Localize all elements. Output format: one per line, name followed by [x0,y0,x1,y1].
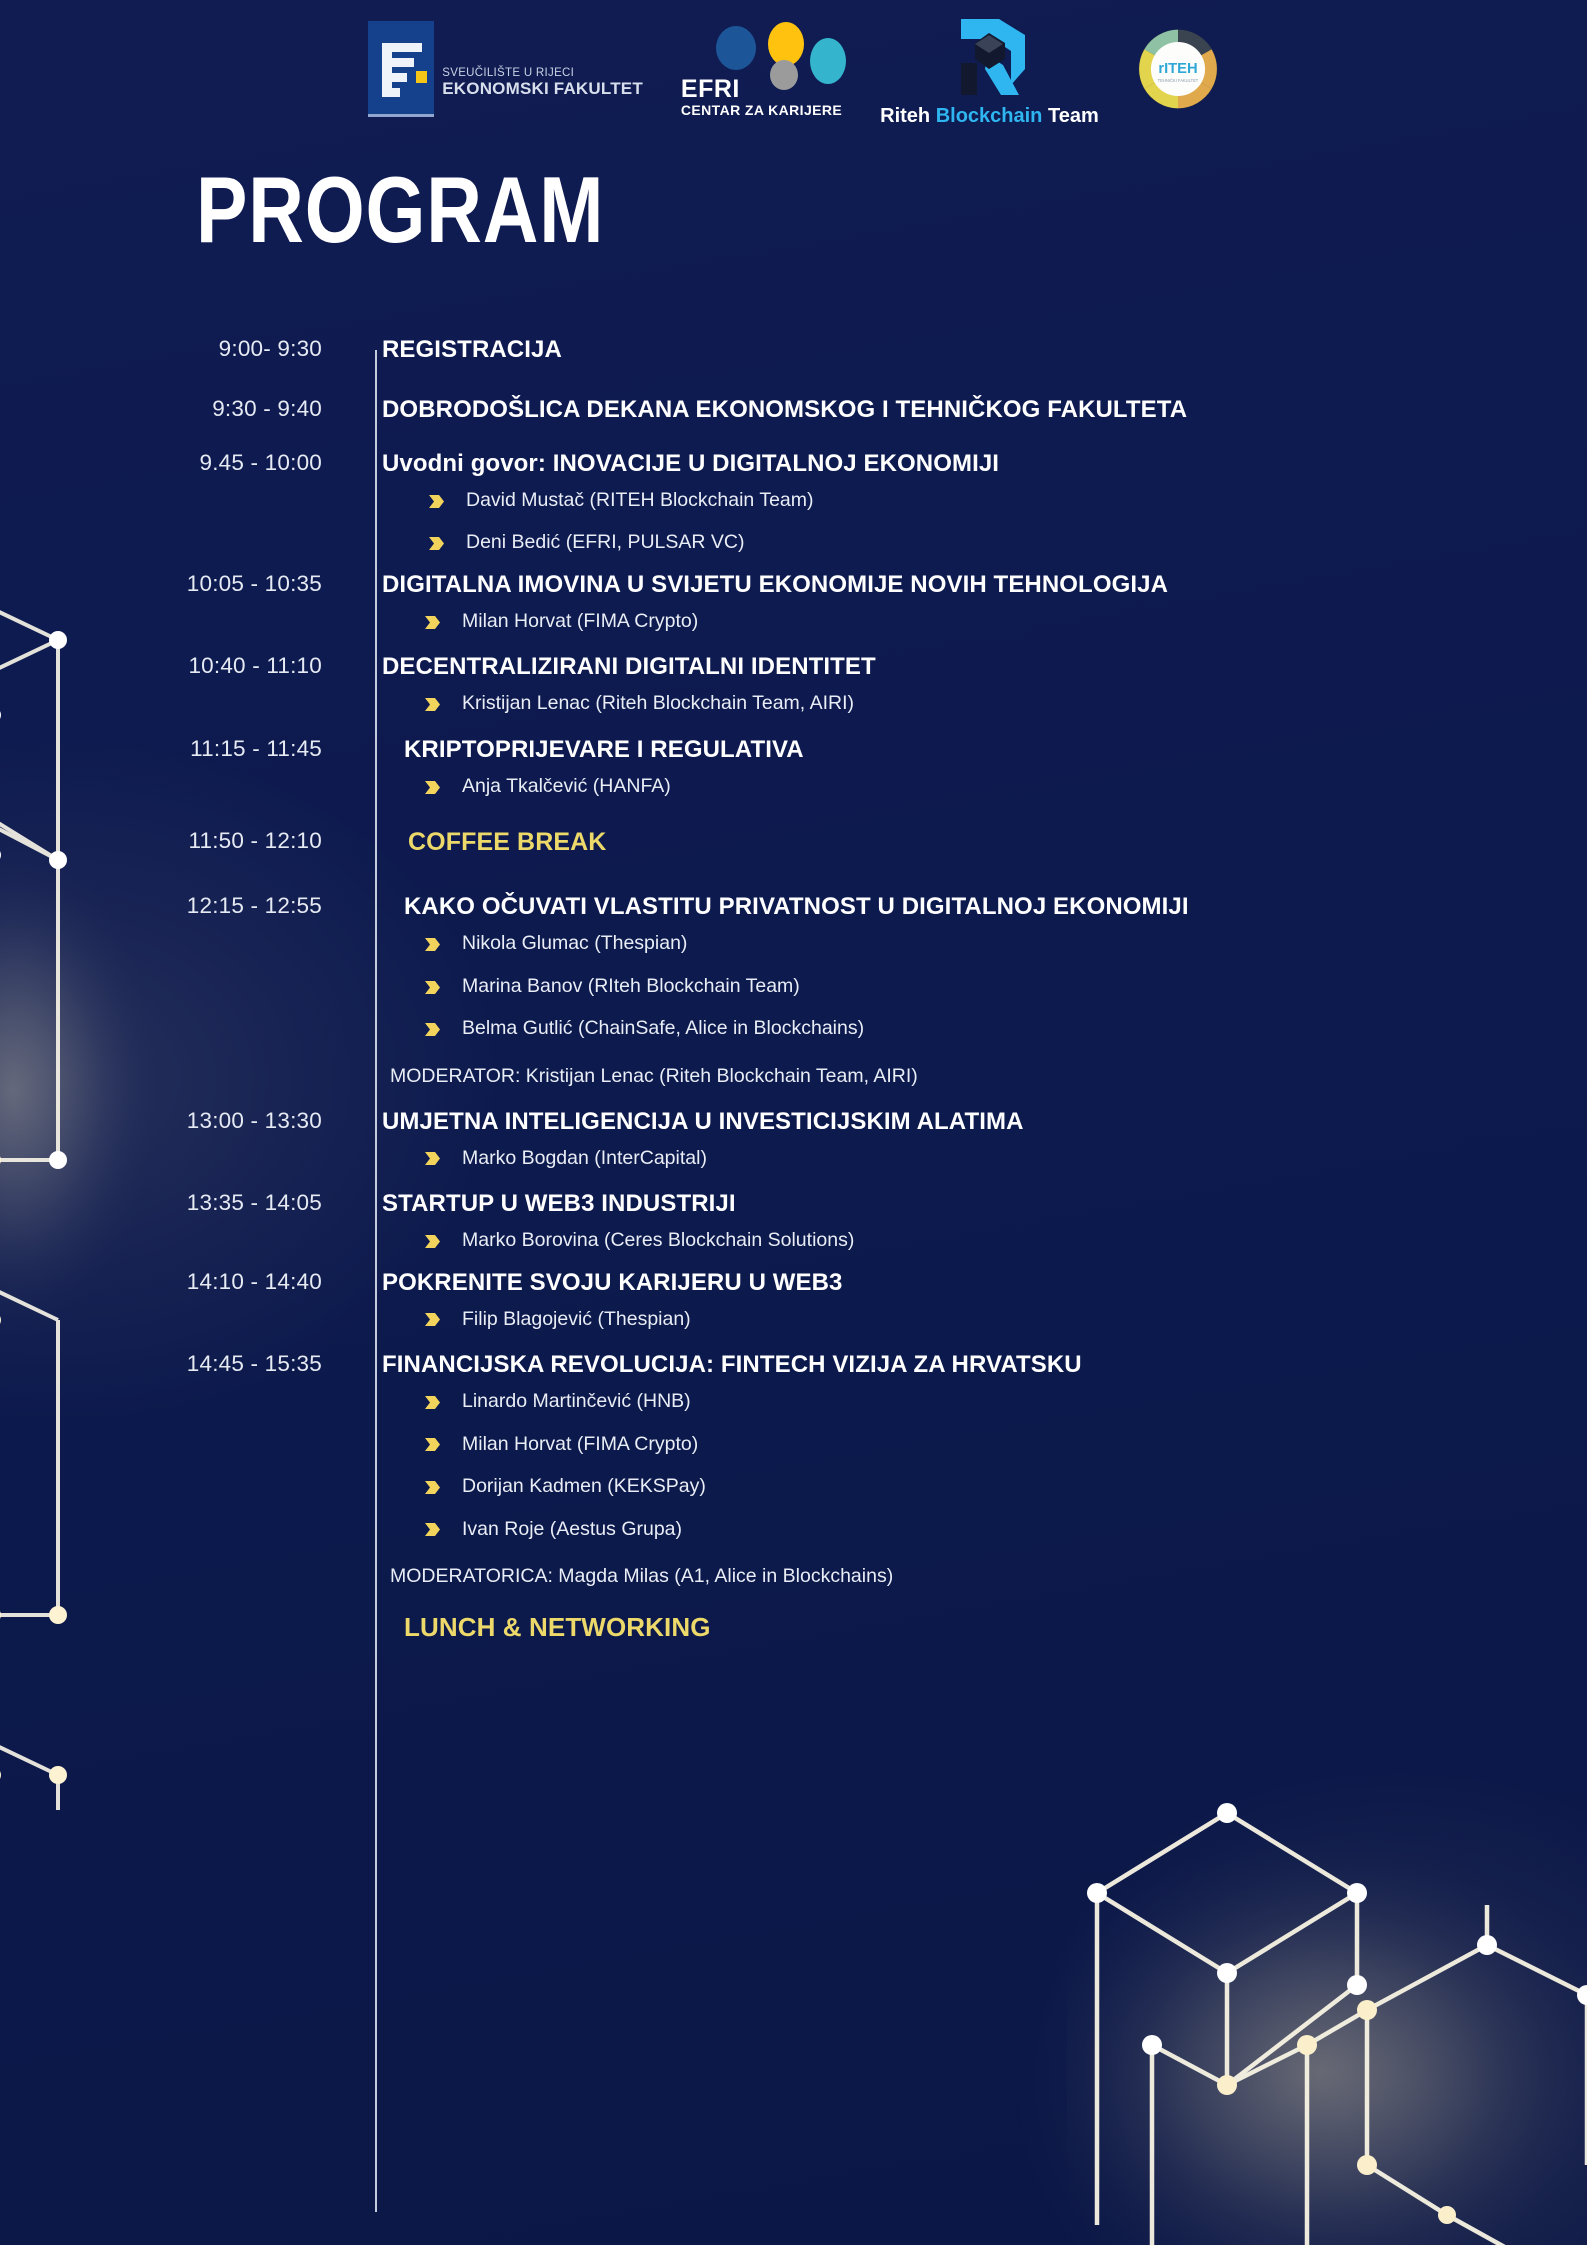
session-title: LUNCH & NETWORKING [382,1612,1587,1643]
session-title: REGISTRACIJA [382,336,1587,364]
schedule-row: 9:00- 9:30REGISTRACIJA [0,336,1587,364]
session-time: 11:50 - 12:10 [0,828,352,854]
schedule-row: 9.45 - 10:00Uvodni govor: INOVACIJE U DI… [0,450,1587,553]
session-title: KRIPTOPRIJEVARE I REGULATIVA [382,736,1587,764]
efri-logo-line2: EKONOMSKI FAKULTET [442,79,643,99]
session-time: 9:30 - 9:40 [0,396,352,422]
speaker-list: Nikola Glumac (Thespian)Marina Banov (RI… [382,933,1587,1038]
speaker-item: Kristijan Lenac (Riteh Blockchain Team, … [424,693,1587,713]
speaker-name: Deni Bedić (EFRI, PULSAR VC) [466,532,745,552]
speaker-name: Dorijan Kadmen (KEKSPay) [462,1476,706,1496]
row-spacer [0,424,1587,450]
speaker-item: Belma Gutlić (ChainSafe, Alice in Blockc… [424,1018,1587,1038]
row-spacer [0,364,1587,396]
row-spacer [0,1168,1587,1190]
session-content: REGISTRACIJA [352,336,1587,364]
speaker-item: Ivan Roje (Aestus Grupa) [424,1519,1587,1539]
speaker-name: Marina Banov (RIteh Blockchain Team) [462,976,800,996]
speaker-item: Milan Horvat (FIMA Crypto) [424,1434,1587,1454]
session-content: COFFEE BREAK [352,828,1587,857]
speaker-name: Anja Tkalčević (HANFA) [462,776,671,796]
session-time: 14:10 - 14:40 [0,1269,352,1295]
session-time: 10:05 - 10:35 [0,571,352,597]
speaker-item: Deni Bedić (EFRI, PULSAR VC) [428,532,1587,552]
session-content: DOBRODOŠLICA DEKANA EKONOMSKOG I TEHNIČK… [352,396,1587,424]
speaker-name: Milan Horvat (FIMA Crypto) [462,1434,698,1454]
session-time: 10:40 - 11:10 [0,653,352,679]
session-time: 13:35 - 14:05 [0,1190,352,1216]
riteh-blockchain-team-label: Riteh Blockchain Team [880,105,1099,128]
speaker-list: Filip Blagojević (Thespian) [382,1309,1587,1329]
efri-f-mark-icon [368,21,434,117]
career-centre-dots-icon [716,20,846,86]
speaker-list: Linardo Martinčević (HNB)Milan Horvat (F… [382,1391,1587,1539]
row-spacer [0,631,1587,653]
schedule-row: 10:05 - 10:35DIGITALNA IMOVINA U SVIJETU… [0,571,1587,631]
speaker-name: Belma Gutlić (ChainSafe, Alice in Blockc… [462,1018,864,1038]
session-content: KAKO OČUVATI VLASTITU PRIVATNOST U DIGIT… [352,893,1587,1087]
riteh-tehnicki-fakultet-seal: rITEH TEHNIČKI FAKULTET [1137,28,1219,110]
efri-logo-line1: SVEUČILIŠTE U RIJECI [442,67,643,79]
arrow-bullet-icon [428,493,448,508]
arrow-bullet-icon [424,696,444,711]
session-content: UMJETNA INTELIGENCIJA U INVESTICIJSKIM A… [352,1108,1587,1168]
schedule-row: 13:00 - 13:30UMJETNA INTELIGENCIJA U INV… [0,1108,1587,1168]
schedule-row: 9:30 - 9:40DOBRODOŠLICA DEKANA EKONOMSKO… [0,396,1587,424]
session-title: Uvodni govor: INOVACIJE U DIGITALNOJ EKO… [382,450,1587,478]
session-time: 9.45 - 10:00 [0,450,352,476]
session-content: LUNCH & NETWORKING [352,1612,1587,1643]
riteh-blockchain-team-logo: Riteh Blockchain Team [880,11,1099,128]
arrow-bullet-icon [424,1394,444,1409]
arrow-bullet-icon [428,535,448,550]
schedule-row: 13:35 - 14:05STARTUP U WEB3 INDUSTRIJIMa… [0,1190,1587,1250]
session-content: DIGITALNA IMOVINA U SVIJETU EKONOMIJE NO… [352,571,1587,631]
arrow-bullet-icon [424,779,444,794]
arrow-bullet-icon [424,1436,444,1451]
arrow-bullet-icon [424,1233,444,1248]
schedule-row: LUNCH & NETWORKING [0,1612,1587,1643]
speaker-name: Filip Blagojević (Thespian) [462,1309,691,1329]
arrow-bullet-icon [424,614,444,629]
arrow-bullet-icon [424,1521,444,1536]
arrow-bullet-icon [424,1150,444,1165]
schedule-row: 11:50 - 12:10COFFEE BREAK [0,828,1587,857]
speaker-item: Marina Banov (RIteh Blockchain Team) [424,976,1587,996]
speaker-name: Marko Bogdan (InterCapital) [462,1148,707,1168]
speaker-name: Ivan Roje (Aestus Grupa) [462,1519,682,1539]
speaker-list: Milan Horvat (FIMA Crypto) [382,611,1587,631]
speaker-list: Marko Borovina (Ceres Blockchain Solutio… [382,1230,1587,1250]
session-content: POKRENITE SVOJU KARIJERU U WEB3Filip Bla… [352,1269,1587,1329]
speaker-name: Linardo Martinčević (HNB) [462,1391,691,1411]
row-spacer [0,1088,1587,1108]
session-title: FINANCIJSKA REVOLUCIJA: FINTECH VIZIJA Z… [382,1351,1587,1379]
speaker-item: Filip Blagojević (Thespian) [424,1309,1587,1329]
blockchain-cubes-decoration-right [1067,1745,1587,2245]
speaker-item: Linardo Martinčević (HNB) [424,1391,1587,1411]
speaker-name: David Mustač (RITEH Blockchain Team) [466,490,814,510]
session-title: KAKO OČUVATI VLASTITU PRIVATNOST U DIGIT… [382,893,1587,921]
session-content: STARTUP U WEB3 INDUSTRIJIMarko Borovina … [352,1190,1587,1250]
row-spacer [0,714,1587,736]
arrow-bullet-icon [424,1021,444,1036]
speaker-item: Marko Borovina (Ceres Blockchain Solutio… [424,1230,1587,1250]
session-time: 13:00 - 13:30 [0,1108,352,1134]
session-content: Uvodni govor: INOVACIJE U DIGITALNOJ EKO… [352,450,1587,553]
efri-centar-za-karijere-logo: EFRI CENTAR ZA KARIJERE [681,20,842,118]
schedule-row: 11:15 - 11:45KRIPTOPRIJEVARE I REGULATIV… [0,736,1587,796]
schedule-row: 14:10 - 14:40POKRENITE SVOJU KARIJERU U … [0,1269,1587,1329]
riteh-blockchain-r-hexagon-icon [941,11,1037,103]
session-content: FINANCIJSKA REVOLUCIJA: FINTECH VIZIJA Z… [352,1351,1587,1588]
arrow-bullet-icon [424,936,444,951]
session-time: 14:45 - 15:35 [0,1351,352,1377]
row-spacer [0,1251,1587,1269]
speaker-item: Marko Bogdan (InterCapital) [424,1148,1587,1168]
session-title: COFFEE BREAK [382,828,1587,857]
svg-text:TEHNIČKI FAKULTET: TEHNIČKI FAKULTET [1157,78,1198,83]
speaker-name: Milan Horvat (FIMA Crypto) [462,611,698,631]
session-title: DOBRODOŠLICA DEKANA EKONOMSKOG I TEHNIČK… [382,396,1587,424]
session-time: 11:15 - 11:45 [0,736,352,762]
speaker-item: Anja Tkalčević (HANFA) [424,776,1587,796]
speaker-list: Anja Tkalčević (HANFA) [382,776,1587,796]
session-title: STARTUP U WEB3 INDUSTRIJI [382,1190,1587,1218]
speaker-name: Kristijan Lenac (Riteh Blockchain Team, … [462,693,854,713]
arrow-bullet-icon [424,1311,444,1326]
session-title: UMJETNA INTELIGENCIJA U INVESTICIJSKIM A… [382,1108,1587,1136]
arrow-bullet-icon [424,1479,444,1494]
career-centre-line2: CENTAR ZA KARIJERE [681,102,842,118]
speaker-item: David Mustač (RITEH Blockchain Team) [428,490,1587,510]
schedule-row: 12:15 - 12:55KAKO OČUVATI VLASTITU PRIVA… [0,893,1587,1087]
schedule-row: 10:40 - 11:10DECENTRALIZIRANI DIGITALNI … [0,653,1587,713]
page-title: PROGRAM [196,163,604,257]
row-spacer [0,553,1587,571]
session-title: DECENTRALIZIRANI DIGITALNI IDENTITET [382,653,1587,681]
speaker-list: Marko Bogdan (InterCapital) [382,1148,1587,1168]
session-time: 9:00- 9:30 [0,336,352,362]
speaker-name: Marko Borovina (Ceres Blockchain Solutio… [462,1230,854,1250]
session-title: DIGITALNA IMOVINA U SVIJETU EKONOMIJE NO… [382,571,1587,599]
row-spacer [0,857,1587,893]
row-spacer [0,1329,1587,1351]
row-spacer [0,1588,1587,1612]
sponsor-logo-bar: SVEUČILIŠTE U RIJECI EKONOMSKI FAKULTET … [0,8,1587,130]
speaker-list: Kristijan Lenac (Riteh Blockchain Team, … [382,693,1587,713]
arrow-bullet-icon [424,979,444,994]
schedule-row: 14:45 - 15:35FINANCIJSKA REVOLUCIJA: FIN… [0,1351,1587,1588]
session-title: POKRENITE SVOJU KARIJERU U WEB3 [382,1269,1587,1297]
speaker-list: David Mustač (RITEH Blockchain Team)Deni… [382,490,1587,553]
speaker-item: Dorijan Kadmen (KEKSPay) [424,1476,1587,1496]
session-moderator: MODERATORICA: Magda Milas (A1, Alice in … [390,1565,1587,1588]
session-time: 12:15 - 12:55 [0,893,352,919]
session-moderator: MODERATOR: Kristijan Lenac (Riteh Blockc… [390,1065,1587,1088]
poster-page: SVEUČILIŠTE U RIJECI EKONOMSKI FAKULTET … [0,0,1587,2245]
speaker-name: Nikola Glumac (Thespian) [462,933,687,953]
efri-ekonomski-fakultet-logo: SVEUČILIŠTE U RIJECI EKONOMSKI FAKULTET [368,21,643,117]
session-content: DECENTRALIZIRANI DIGITALNI IDENTITETKris… [352,653,1587,713]
speaker-item: Milan Horvat (FIMA Crypto) [424,611,1587,631]
schedule-list: 9:00- 9:30REGISTRACIJA9:30 - 9:40DOBRODO… [0,336,1587,1643]
session-content: KRIPTOPRIJEVARE I REGULATIVAAnja Tkalčev… [352,736,1587,796]
speaker-item: Nikola Glumac (Thespian) [424,933,1587,953]
row-spacer [0,796,1587,828]
svg-text:rITEH: rITEH [1158,61,1197,77]
